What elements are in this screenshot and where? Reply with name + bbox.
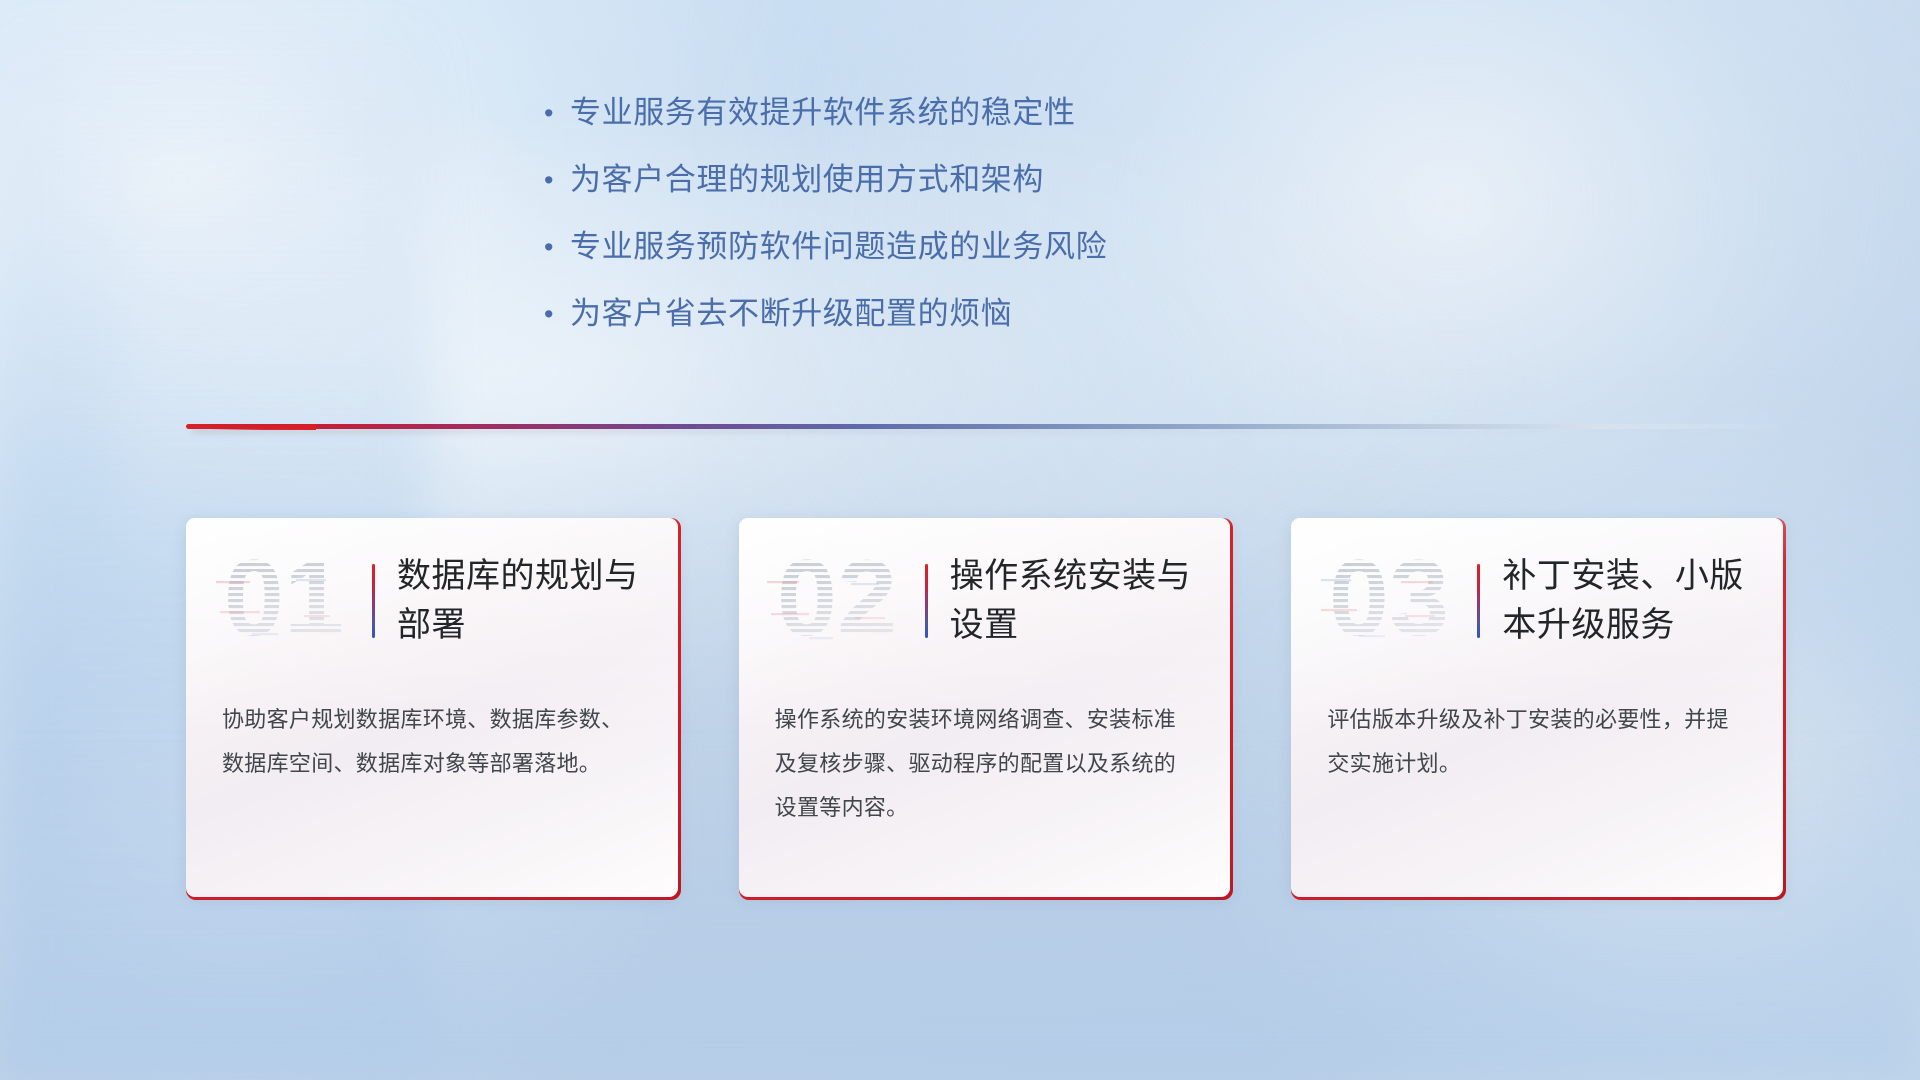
card-divider-bar — [925, 564, 928, 638]
striped-number-icon: 01 — [200, 545, 368, 657]
card-header: 02 操作系统安装与设置 — [739, 536, 1231, 666]
striped-number-icon: 03 — [1305, 545, 1473, 657]
gradient-divider — [186, 424, 1786, 431]
card-number-graphic: 01 — [200, 545, 368, 657]
card-header: 01 数据库的规划与部署 — [186, 536, 678, 666]
card-header: 03 补丁安装、小版本升级服务 — [1291, 536, 1783, 666]
bullet-item: • 专业服务预防软件问题造成的业务风险 — [540, 222, 1500, 272]
card-divider-bar — [372, 564, 375, 638]
bullet-dot-icon: • — [540, 222, 570, 272]
bullet-item-label: 专业服务预防软件问题造成的业务风险 — [570, 222, 1107, 272]
card-title: 补丁安装、小版本升级服务 — [1502, 552, 1783, 650]
bullet-item: • 为客户省去不断升级配置的烦恼 — [540, 289, 1500, 339]
bullet-item: • 为客户合理的规划使用方式和架构 — [540, 155, 1500, 205]
striped-number-icon: 02 — [753, 545, 921, 657]
bullet-item-label: 为客户合理的规划使用方式和架构 — [570, 155, 1044, 205]
card-number-graphic: 02 — [753, 545, 921, 657]
bullet-item-label: 专业服务有效提升软件系统的稳定性 — [570, 88, 1076, 138]
divider-shadow — [192, 429, 1760, 433]
card-surface: 03 补丁安装、小版本升级服务 评估版本升级及 — [1291, 518, 1783, 897]
card-title: 操作系统安装与设置 — [950, 552, 1231, 650]
bullet-dot-icon: • — [540, 289, 570, 339]
card-surface: 02 操作系统安装与设置 操作系统的安装环境网 — [739, 518, 1231, 897]
bullet-dot-icon: • — [540, 155, 570, 205]
card-divider-bar — [1477, 564, 1480, 638]
card-description: 操作系统的安装环境网络调查、安装标准及复核步骤、驱动程序的配置以及系统的设置等内… — [775, 698, 1197, 830]
card-description: 协助客户规划数据库环境、数据库参数、数据库空间、数据库对象等部署落地。 — [222, 698, 644, 786]
bullet-dot-icon: • — [540, 88, 570, 138]
bullet-item-label: 为客户省去不断升级配置的烦恼 — [570, 289, 1012, 339]
benefits-bullet-list: • 专业服务有效提升软件系统的稳定性 • 为客户合理的规划使用方式和架构 • 专… — [540, 88, 1500, 356]
service-card[interactable]: 02 操作系统安装与设置 操作系统的安装环境网 — [739, 518, 1234, 900]
divider-line — [186, 424, 1786, 429]
service-card[interactable]: 01 数据库的规划与部署 协助客户规划数据库环 — [186, 518, 681, 900]
service-card[interactable]: 03 补丁安装、小版本升级服务 评估版本升级及 — [1291, 518, 1786, 900]
svg-text:01: 01 — [224, 545, 344, 657]
card-surface: 01 数据库的规划与部署 协助客户规划数据库环 — [186, 518, 678, 897]
card-number-graphic: 03 — [1305, 545, 1473, 657]
svg-text:03: 03 — [1329, 545, 1449, 657]
slide-canvas: • 专业服务有效提升软件系统的稳定性 • 为客户合理的规划使用方式和架构 • 专… — [0, 0, 1920, 1080]
bullet-item: • 专业服务有效提升软件系统的稳定性 — [540, 88, 1500, 138]
card-description: 评估版本升级及补丁安装的必要性，并提交实施计划。 — [1327, 698, 1749, 786]
svg-text:02: 02 — [777, 545, 897, 657]
service-card-row: 01 数据库的规划与部署 协助客户规划数据库环 — [186, 518, 1786, 908]
card-title: 数据库的规划与部署 — [397, 552, 678, 650]
